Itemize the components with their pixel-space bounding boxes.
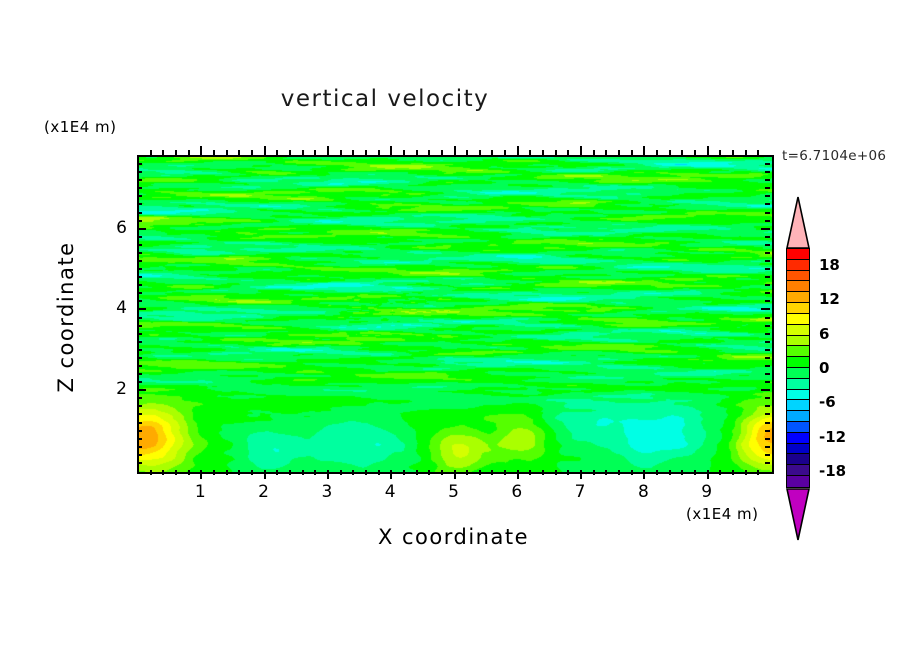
x-axis-tick-top: [643, 146, 645, 155]
x-axis-tick-label: 2: [244, 482, 284, 502]
colorbar-band: [787, 260, 809, 271]
colorbar-band: [787, 281, 809, 292]
colorbar-over-arrow-icon: [786, 196, 810, 249]
colorbar-under-arrow-icon: [786, 488, 810, 541]
x-axis-tick-top: [580, 146, 582, 155]
x-axis-units-label: (x1E4 m): [686, 505, 759, 523]
x-axis-tick-top: [200, 146, 202, 155]
colorbar-tick-label: 18: [819, 256, 840, 274]
y-axis-tick-label: 2: [97, 379, 127, 399]
colorbar-band: [787, 433, 809, 444]
contour-field-canvas: [139, 157, 772, 472]
x-axis-tick-label: 7: [560, 482, 600, 502]
x-axis-tick-label: 3: [307, 482, 347, 502]
colorbar-band: [787, 444, 809, 455]
colorbar-bands: [786, 248, 810, 488]
x-axis-tick-label: 4: [370, 482, 410, 502]
x-axis-tick-label: 8: [623, 482, 663, 502]
colorbar-band: [787, 422, 809, 433]
colorbar-band: [787, 379, 809, 390]
contour-plot-area: [137, 155, 774, 474]
colorbar-band: [787, 325, 809, 336]
colorbar-tick-label: -6: [819, 393, 836, 411]
x-axis-tick-label: 1: [180, 482, 220, 502]
x-axis-tick-top: [517, 146, 519, 155]
colorbar-band: [787, 303, 809, 314]
x-axis-tick-label: 6: [497, 482, 537, 502]
colorbar-band: [787, 357, 809, 368]
colorbar-tick-label: 0: [819, 359, 829, 377]
y-axis-tick-label: 4: [97, 298, 127, 318]
x-axis-tick-label: 5: [434, 482, 474, 502]
x-axis-tick-top: [327, 146, 329, 155]
y-axis-tick-label: 6: [97, 218, 127, 238]
colorbar-band: [787, 249, 809, 260]
x-axis-tick-top: [454, 146, 456, 155]
colorbar-band: [787, 271, 809, 282]
colorbar-band: [787, 346, 809, 357]
colorbar-tick-label: 6: [819, 325, 829, 343]
colorbar-band: [787, 368, 809, 379]
timestamp-annotation: t=6.7104e+06: [782, 148, 886, 164]
y-axis-units-label: (x1E4 m): [44, 118, 117, 136]
chart-title: vertical velocity: [0, 86, 770, 112]
colorbar-band: [787, 454, 809, 465]
colorbar-tick-label: 12: [819, 290, 840, 308]
x-axis-tick-top: [390, 146, 392, 155]
x-axis-title: X coordinate: [137, 525, 770, 549]
colorbar-band: [787, 314, 809, 325]
colorbar-band: [787, 390, 809, 401]
colorbar-tick-label: -12: [819, 428, 846, 446]
y-axis-title: Z coordinate: [54, 207, 78, 427]
x-axis-tick-label: 9: [687, 482, 727, 502]
colorbar-band: [787, 476, 809, 487]
x-axis-tick-top: [264, 146, 266, 155]
colorbar-band: [787, 411, 809, 422]
colorbar-band: [787, 400, 809, 411]
colorbar-band: [787, 465, 809, 476]
colorbar-band: [787, 336, 809, 347]
x-axis-tick-top: [707, 146, 709, 155]
colorbar-band: [787, 292, 809, 303]
colorbar-tick-label: -18: [819, 462, 846, 480]
